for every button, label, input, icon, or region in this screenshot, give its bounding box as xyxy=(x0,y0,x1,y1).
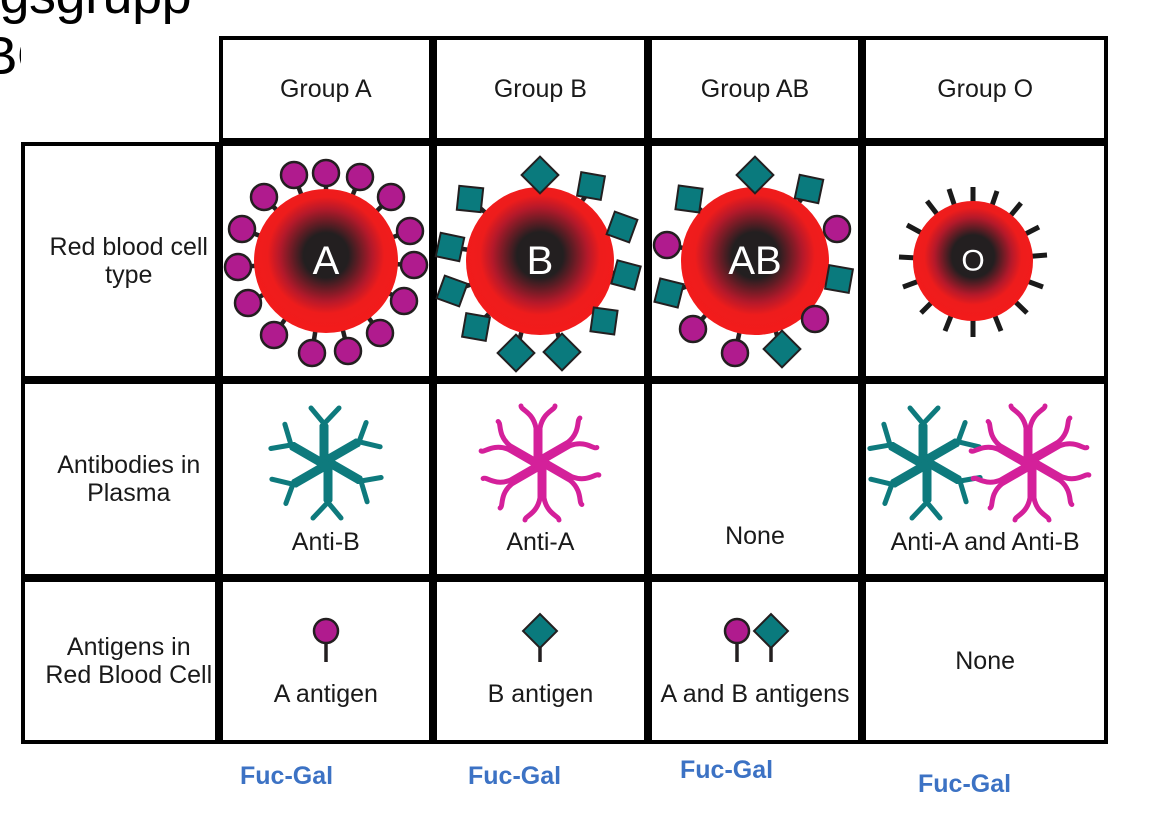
caption-a-and-b-antigens: A and B antigens xyxy=(660,680,849,708)
fuc-gal-label-group-o: Fuc-Gal xyxy=(918,770,1011,799)
cell-rbc-group-b: B xyxy=(433,142,648,380)
cell-antigens-group-o: None xyxy=(862,578,1108,744)
table-row: Antibodies in Plasma xyxy=(21,380,1108,578)
red-blood-cell-ab-icon: AB xyxy=(657,155,853,367)
caption-a-antigen: A antigen xyxy=(274,680,378,708)
red-blood-cell-a-icon: A xyxy=(228,155,424,367)
column-header-group-o: Group O xyxy=(862,36,1108,142)
caption-b-antigen: B antigen xyxy=(488,680,594,708)
table-header-row: Group A Group B Group AB Group O xyxy=(21,36,1108,142)
fuc-gal-label-group-ab: Fuc-Gal xyxy=(680,756,773,785)
caption-antibodies-none: None xyxy=(725,522,785,550)
column-header-group-b: Group B xyxy=(433,36,648,142)
column-header-group-a: Group A xyxy=(219,36,434,142)
cell-letter-a: A xyxy=(312,239,339,283)
row-label-antigens-in-red-blood-cell: Antigens in Red Blood Cell xyxy=(21,578,219,744)
anti-a-and-anti-b-antibody-cluster-icon xyxy=(865,402,1105,524)
caption-antigens-none: None xyxy=(955,647,1015,675)
cell-letter-b: B xyxy=(527,239,554,283)
caption-anti-a-and-anti-b: Anti-A and Anti-B xyxy=(891,528,1080,556)
table-row: Red blood cell type xyxy=(21,142,1108,380)
b-antigen-icon xyxy=(510,614,570,670)
cell-antibodies-group-o: Anti-A and Anti-B xyxy=(862,380,1108,578)
a-antigen-icon xyxy=(296,614,356,670)
cell-antigens-group-b: B antigen xyxy=(433,578,648,744)
cell-antibodies-group-b: Anti-A xyxy=(433,380,648,578)
red-blood-cell-o-icon: O xyxy=(885,155,1085,367)
page-title-line-1: …gsgrupp xyxy=(0,0,366,23)
table-corner-cell xyxy=(21,36,219,142)
table-row: Antigens in Red Blood Cell A antigen xyxy=(21,578,1108,744)
cell-rbc-group-o: O xyxy=(862,142,1108,380)
cell-antibodies-group-ab: None xyxy=(648,380,863,578)
cell-rbc-group-a: A xyxy=(219,142,434,380)
caption-anti-b: Anti-B xyxy=(292,528,360,556)
red-blood-cell-b-icon: B xyxy=(442,155,638,367)
caption-anti-a: Anti-A xyxy=(506,528,574,556)
column-header-group-ab: Group AB xyxy=(648,36,863,142)
cell-letter-ab: AB xyxy=(728,239,781,283)
row-label-red-blood-cell-type: Red blood cell type xyxy=(21,142,219,380)
cell-rbc-group-ab: AB xyxy=(648,142,863,380)
anti-a-antibody-cluster-icon xyxy=(465,402,615,524)
cell-letter-o: O xyxy=(961,245,984,278)
cell-antigens-group-a: A antigen xyxy=(219,578,434,744)
cell-antigens-group-ab: A and B antigens xyxy=(648,578,863,744)
fuc-gal-label-group-a: Fuc-Gal xyxy=(240,762,333,791)
row-label-antibodies-in-plasma: Antibodies in Plasma xyxy=(21,380,219,578)
a-and-b-antigens-icon xyxy=(709,614,801,670)
fuc-gal-footer-row: Fuc-Gal Fuc-Gal Fuc-Gal Fuc-Gal xyxy=(218,752,1108,822)
fuc-gal-label-group-b: Fuc-Gal xyxy=(468,762,561,791)
cell-antibodies-group-a: Anti-B xyxy=(219,380,434,578)
abo-blood-group-table: Group A Group B Group AB Group O Red blo… xyxy=(21,36,1108,736)
anti-b-antibody-cluster-icon xyxy=(251,402,401,524)
